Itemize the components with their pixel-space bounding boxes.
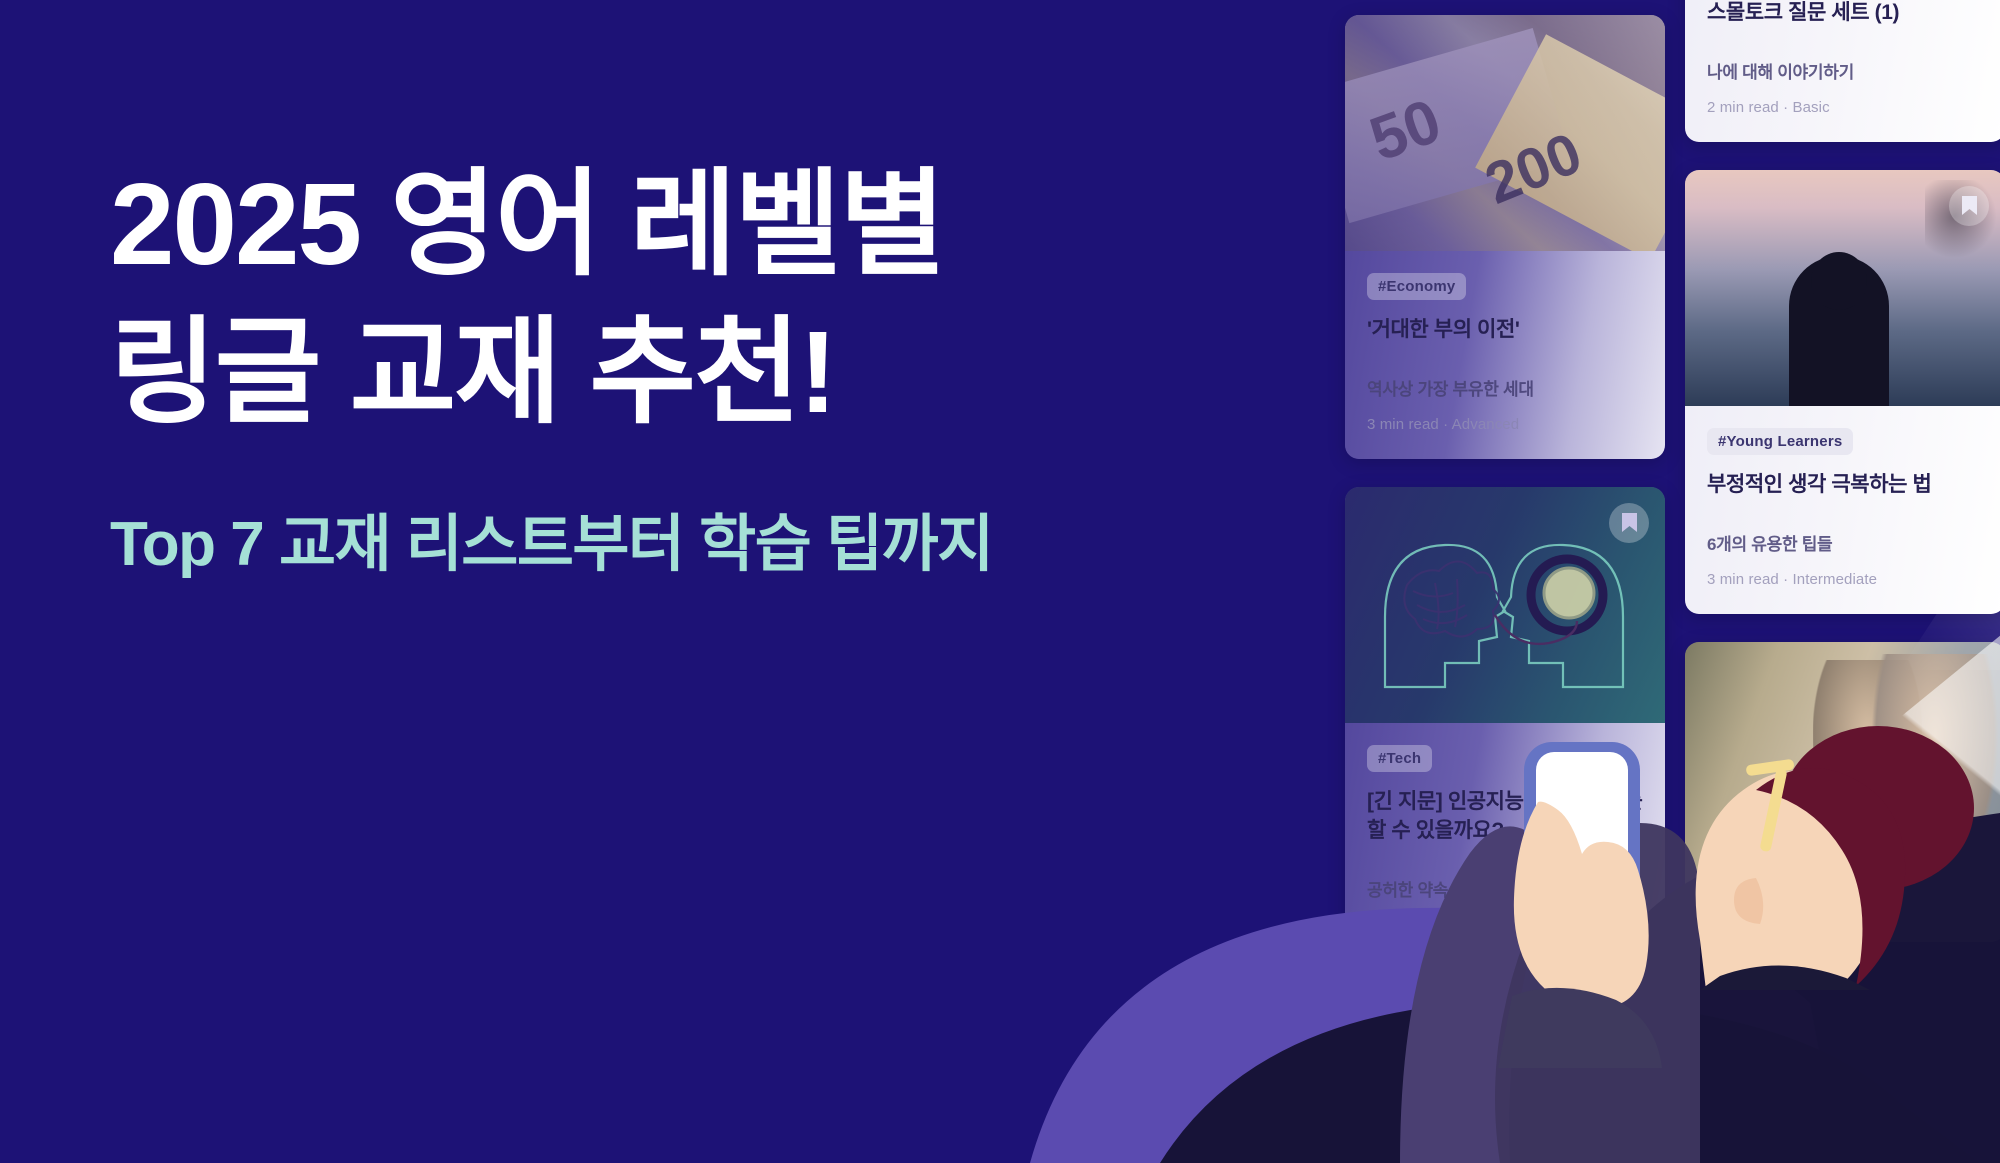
page-title: 2025 영어 레벨별 링글 교재 추천! — [110, 150, 1230, 447]
bookmark-icon[interactable] — [1609, 503, 1649, 543]
card-title: [긴 지문] 인공지능이 심리치료를 할 수 있을까요? — [1367, 788, 1643, 846]
card-meta: 3 min read · Intermediate — [1707, 571, 1983, 588]
card-image-dusk-silhouette — [1685, 170, 2000, 406]
card-title: 스몰토크 질문 세트 (1) — [1707, 0, 1983, 28]
card-title: 부정적인 생각 극복하는 법 — [1707, 471, 1983, 500]
page-title-line-1: 2025 영어 레벨별 — [110, 150, 1230, 298]
promo-banner: 2025 영어 레벨별 링글 교재 추천! Top 7 교재 리스트부터 학습 … — [0, 0, 2000, 1163]
person-silhouette — [1789, 256, 1889, 406]
card-description: 공허한 약속 — [1367, 876, 1643, 901]
card-column-right: #Q Set 스몰토크 질문 세트 (1) 나에 대해 이야기하기 2 min … — [1685, 0, 2000, 970]
card-body: #Economy '거대한 부의 이전' 역사상 가장 부유한 세대 3 min… — [1345, 251, 1665, 459]
dark-body-shape — [1160, 1001, 1980, 1163]
lesson-card-economy[interactable]: 50 200 #Economy '거대한 부의 이전' 역사상 가장 부유한 세… — [1345, 15, 1665, 459]
hero-text-block: 2025 영어 레벨별 링글 교재 추천! Top 7 교재 리스트부터 학습 … — [110, 150, 1230, 583]
card-tag[interactable]: #Young Learners — [1707, 428, 1853, 455]
page-subtitle: Top 7 교재 리스트부터 학습 팁까지 — [110, 493, 1230, 583]
card-column-left: 50 200 #Economy '거대한 부의 이전' 역사상 가장 부유한 세… — [1345, 0, 1665, 988]
card-body: #Q Set 스몰토크 질문 세트 (1) 나에 대해 이야기하기 2 min … — [1685, 0, 2000, 142]
bookmark-icon[interactable] — [1949, 186, 1989, 226]
card-title: '거대한 부의 이전' — [1367, 316, 1643, 345]
lesson-card-tech[interactable]: #Tech [긴 지문] 인공지능이 심리치료를 할 수 있을까요? 공허한 약… — [1345, 487, 1665, 960]
card-image-smiling-people — [1685, 642, 2000, 942]
card-image-brain-connection — [1345, 487, 1665, 723]
card-meta: 6 min read · Advanced — [1367, 917, 1643, 934]
card-tag[interactable]: #Tech — [1367, 745, 1432, 772]
card-description: 나에 대해 이야기하기 — [1707, 58, 1983, 83]
lesson-card-grid: 50 200 #Economy '거대한 부의 이전' 역사상 가장 부유한 세… — [1345, 0, 2000, 960]
card-body: #Young Learners 부정적인 생각 극복하는 법 6개의 유용한 팁… — [1685, 406, 2000, 614]
lesson-card-young-learners[interactable]: #Young Learners 부정적인 생각 극복하는 법 6개의 유용한 팁… — [1685, 170, 2000, 614]
card-description: 6개의 유용한 팁들 — [1707, 530, 1983, 555]
lesson-card-qset[interactable]: #Q Set 스몰토크 질문 세트 (1) 나에 대해 이야기하기 2 min … — [1685, 0, 2000, 142]
card-image-banknotes: 50 200 — [1345, 15, 1665, 251]
card-meta: 2 min read · Basic — [1707, 99, 1983, 116]
page-title-line-2: 링글 교재 추천! — [110, 298, 1230, 446]
card-body: #Tech [긴 지문] 인공지능이 심리치료를 할 수 있을까요? 공허한 약… — [1345, 723, 1665, 960]
card-meta: 3 min read · Advanced — [1367, 416, 1643, 433]
card-tag[interactable]: #Economy — [1367, 273, 1466, 300]
card-description: 역사상 가장 부유한 세대 — [1367, 375, 1643, 400]
lesson-card-photo[interactable] — [1685, 642, 2000, 942]
